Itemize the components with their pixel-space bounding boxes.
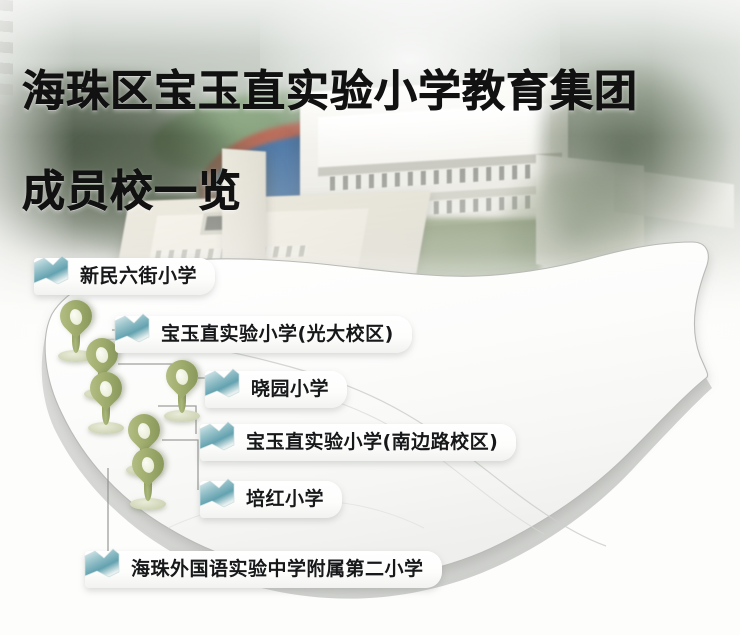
ribbon-flag-icon-2	[109, 310, 155, 350]
page-title: 海珠区宝玉直实验小学教育集团 成员校一览	[22, 18, 722, 218]
school-label-6[interactable]: 海珠外国语实验中学附属第二小学	[85, 551, 442, 588]
ribbon-flag-icon-1	[28, 252, 74, 292]
ribbon-flag-icon-5	[194, 475, 240, 515]
school-label-1[interactable]: 新民六街小学	[34, 258, 215, 295]
school-label-text-4: 宝玉直实验小学(南边路校区)	[246, 433, 498, 452]
school-label-text-6: 海珠外国语实验中学附属第二小学	[131, 560, 424, 579]
ribbon-flag-icon-4	[194, 418, 240, 458]
map-pin-icon-6[interactable]	[128, 448, 168, 510]
infographic-poster: 海珠区宝玉直实验小学教育集团 成员校一览	[0, 0, 740, 635]
school-label-text-3: 晓园小学	[251, 380, 329, 399]
school-label-5[interactable]: 培红小学	[200, 481, 342, 518]
school-label-text-5: 培红小学	[246, 490, 324, 509]
school-label-text-2: 宝玉直实验小学(光大校区)	[161, 325, 394, 344]
ribbon-flag-icon-3	[199, 365, 245, 405]
page-title-line-2: 成员校一览	[22, 169, 242, 216]
page-title-line-1: 海珠区宝玉直实验小学教育集团	[22, 69, 638, 116]
map-pin-icon-4[interactable]	[162, 360, 202, 422]
school-label-text-1: 新民六街小学	[80, 267, 197, 286]
school-label-3[interactable]: 晓园小学	[205, 371, 347, 408]
school-label-4[interactable]: 宝玉直实验小学(南边路校区)	[200, 424, 516, 461]
ribbon-flag-icon-6	[79, 545, 125, 585]
map-pin-icon-3[interactable]	[86, 372, 126, 434]
school-label-2[interactable]: 宝玉直实验小学(光大校区)	[115, 316, 412, 353]
